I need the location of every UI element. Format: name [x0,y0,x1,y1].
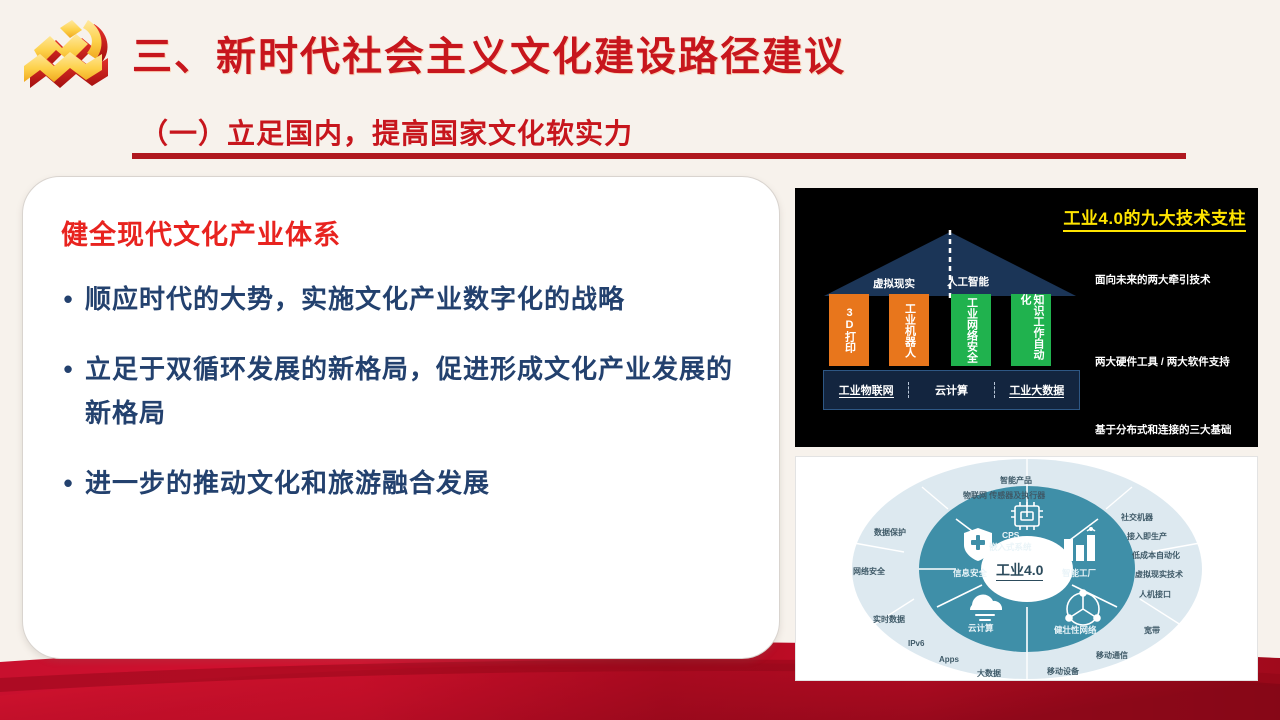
slide-header: 三、新时代社会主义文化建设路径建议 （一）立足国内，提高国家文化软实力 [0,0,1280,170]
bullet-marker-icon: • [51,277,85,321]
bullet-text: 进一步的推动文化和旅游融合发展 [85,461,490,505]
outer-label-broadband: 宽带 [1144,625,1160,636]
outer-label-realtime-data: 实时数据 [873,614,905,625]
outer-label-data-protect: 数据保护 [874,527,906,538]
outer-label-plug-produce: 接入即生产 [1127,531,1167,542]
outer-label-network-sec: 网络安全 [853,566,885,577]
bullet-marker-icon: • [51,347,85,391]
base-cell-bigdata: 工业大数据 [994,382,1079,398]
outer-label-apps: Apps [939,655,959,664]
outer-label-social-robot: 社交机器 [1121,512,1153,523]
bullet-marker-icon: • [51,461,85,505]
party-emblem-icon [16,14,124,106]
pyramid-pillars: 3D打印 工业机器人 工业网络安全 知识工作自动化 [823,288,1080,366]
inner-label-cps: CPS [1002,530,1019,540]
list-item: • 顺应时代的大势，实施文化产业数字化的战略 [51,277,753,321]
note-foundation: 基于分布式和连接的三大基础 [1095,422,1232,437]
outer-label-vr-tech: 虚拟现实技术 [1135,569,1183,580]
outer-label-mobile-comm: 移动通信 [1096,650,1128,661]
inner-label-cloud: 云计算 [968,622,994,634]
outer-label-bigdata: 大数据 [977,668,1001,679]
inner-label-cps-sub: 嵌入式系统 [989,541,1032,553]
wheel-core-label: 工业4.0 [996,560,1043,581]
list-item: • 立足于双循环发展的新格局，促进形成文化产业发展的新格局 [51,347,753,435]
card-heading: 健全现代文化产业体系 [61,213,341,252]
outer-label-ipv6: IPv6 [908,639,924,648]
inner-label-network: 健壮性网络 [1054,624,1097,636]
roof-label-ai: 人工智能 [947,274,989,289]
outer-label-low-cost-auto: 低成本自动化 [1132,550,1180,561]
pillar-knowledge-automation: 知识工作自动化 [1011,294,1051,366]
inner-label-smartfactory: 智能工厂 [1062,567,1096,579]
list-item: • 进一步的推动文化和旅游融合发展 [51,461,753,505]
outer-label-hmi: 人机接口 [1139,589,1171,600]
note-hardware-software: 两大硬件工具 / 两大软件支持 [1095,354,1230,369]
inner-label-infosec: 信息安全 [953,567,987,579]
note-traction-tech: 面向未来的两大牵引技术 [1095,272,1211,287]
base-cell-iiot: 工业物联网 [824,382,908,398]
bullet-list: • 顺应时代的大势，实施文化产业数字化的战略 • 立足于双循环发展的新格局，促进… [51,277,753,531]
figure-pyramid-title: 工业4.0的九大技术支柱 [1063,204,1246,232]
outer-label-smart-product: 智能产品 [1000,475,1032,486]
base-cell-cloud: 云计算 [908,382,993,398]
pyramid-base: 工业物联网 云计算 工业大数据 [823,370,1080,410]
subtitle-underline [132,153,1186,159]
bullet-text: 立足于双循环发展的新格局，促进形成文化产业发展的新格局 [85,347,753,435]
pillar-industrial-robot: 工业机器人 [889,294,929,366]
pillar-3d-printing: 3D打印 [829,294,869,366]
pillar-network-security: 工业网络安全 [951,294,991,366]
bullet-text: 顺应时代的大势，实施文化产业数字化的战略 [85,277,625,321]
outer-label-mobile-device: 移动设备 [1047,666,1079,677]
figure-industry40-pillars: 工业4.0的九大技术支柱 虚拟现实 人工智能 3D打印 工业机器人 工业网络安全… [795,188,1258,447]
figure-industry40-wheel: 工业4.0 CPS 嵌入式系统 信息安全 智能工厂 云计算 健壮性网络 智能产品… [795,456,1258,681]
outer-label-iot-sensors: 物联网 传感器及执行器 [963,490,1045,501]
section-subtitle: （一）立足国内，提高国家文化软实力 [140,112,633,152]
content-card: 健全现代文化产业体系 • 顺应时代的大势，实施文化产业数字化的战略 • 立足于双… [22,176,780,659]
page-title: 三、新时代社会主义文化建设路径建议 [132,24,846,82]
